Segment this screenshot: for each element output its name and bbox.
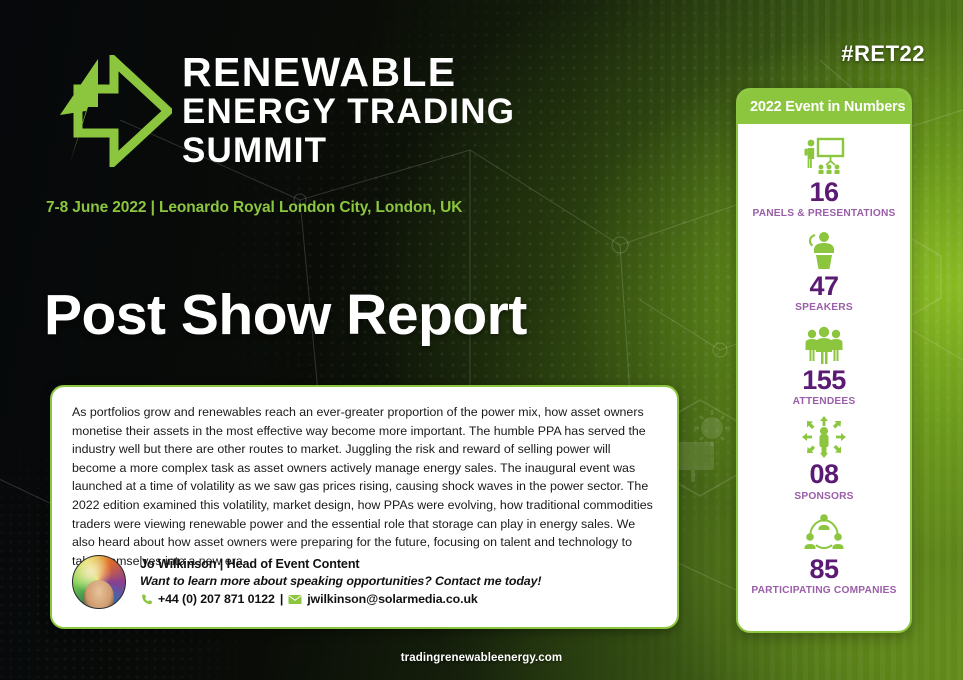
logo-line-2: ENERGY TRADING <box>182 92 515 131</box>
solar-panel-hex-icon <box>672 410 730 482</box>
network-people-icon <box>744 511 904 553</box>
presentation-icon <box>744 134 904 176</box>
stat-value: 155 <box>744 366 904 395</box>
footer-url[interactable]: tradingrenewableenergy.com <box>0 652 963 664</box>
page-title: Post Show Report <box>44 282 527 348</box>
stat-label: PANELS & PRESENTATIONS <box>744 208 904 219</box>
stat-value: 47 <box>744 272 904 301</box>
summary-body-text: As portfolios grow and renewables reach … <box>72 403 657 570</box>
lightning-arrow-logo-mark <box>42 55 172 167</box>
stat-value: 85 <box>744 555 904 584</box>
poster-page: RENEWABLE ENERGY TRADING SUMMIT 7-8 June… <box>0 0 963 680</box>
event-numbers-panel: 2022 Event in Numbers <box>736 88 912 633</box>
envelope-icon <box>288 594 302 605</box>
summary-card: As portfolios grow and renewables reach … <box>50 385 679 629</box>
stat-value: 08 <box>744 460 904 489</box>
stat-sponsors: 08 SPONSORS <box>744 416 904 501</box>
panel-title: 2022 Event in Numbers <box>738 90 910 124</box>
person-arrows-icon <box>744 416 904 458</box>
contact-details-line: +44 (0) 207 871 0122 | jwilkinson@solarm… <box>140 592 541 606</box>
stat-attendees: 155 ATTENDEES <box>744 322 904 407</box>
stat-label: SPONSORS <box>744 491 904 502</box>
event-hashtag: #RET22 <box>841 41 925 67</box>
event-date-location: 7-8 June 2022 | Leonardo Royal London Ci… <box>46 199 462 217</box>
event-logo: RENEWABLE ENERGY TRADING SUMMIT <box>42 52 515 171</box>
contact-block: Jo Wilkinson | Head of Event Content Wan… <box>72 555 659 609</box>
stat-label: SPEAKERS <box>744 302 904 313</box>
people-group-icon <box>744 322 904 364</box>
avatar <box>72 555 126 609</box>
stat-participating-companies: 85 PARTICIPATING COMPANIES <box>744 511 904 596</box>
stat-label: PARTICIPATING COMPANIES <box>744 585 904 596</box>
contact-tagline: Want to learn more about speaking opport… <box>140 574 541 588</box>
contact-name: Jo Wilkinson | Head of Event Content <box>140 557 541 571</box>
contact-email[interactable]: jwilkinson@solarmedia.co.uk <box>307 592 478 606</box>
stat-speakers: 47 SPEAKERS <box>744 228 904 313</box>
stat-label: ATTENDEES <box>744 396 904 407</box>
phone-icon <box>140 593 153 606</box>
logo-line-3: SUMMIT <box>182 131 515 170</box>
panel-body: 16 PANELS & PRESENTATIONS 47 SPEAKE <box>738 124 910 604</box>
podium-speaker-icon <box>744 228 904 270</box>
contact-separator: | <box>280 592 283 606</box>
stat-value: 16 <box>744 178 904 207</box>
stat-panels-presentations: 16 PANELS & PRESENTATIONS <box>744 134 904 219</box>
contact-phone[interactable]: +44 (0) 207 871 0122 <box>158 592 275 606</box>
logo-line-1: RENEWABLE <box>182 52 515 92</box>
